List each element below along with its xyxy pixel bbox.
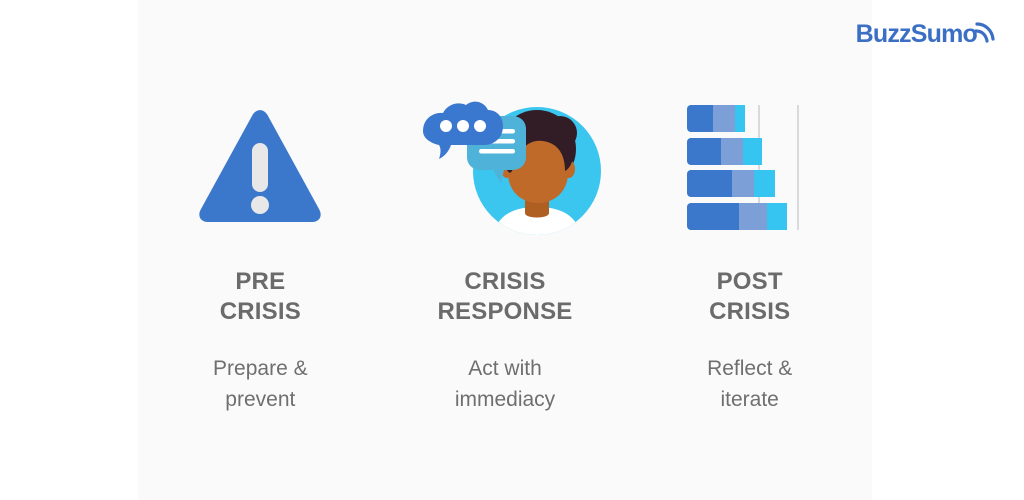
crisis-response-icon-box xyxy=(405,90,605,245)
post-crisis-icon-box xyxy=(687,90,813,245)
bar-segment-2 xyxy=(713,105,735,132)
phase-title-crisis-response: CRISIS RESPONSE xyxy=(438,267,573,327)
bar-segment-1 xyxy=(687,170,732,197)
phase-columns: PRE CRISIS Prepare & prevent xyxy=(138,90,872,415)
phase-description-pre-crisis: Prepare & prevent xyxy=(213,353,308,415)
table-row xyxy=(687,203,813,230)
phase-title-pre-crisis: PRE CRISIS xyxy=(220,267,301,327)
bar-segment-2 xyxy=(732,170,754,197)
phase-column-post-crisis: POST CRISIS Reflect & iterate xyxy=(627,90,872,415)
chart-bars xyxy=(687,105,813,230)
bar-segment-3 xyxy=(754,170,775,197)
stacked-bar-chart-icon xyxy=(687,105,813,230)
bar-segment-3 xyxy=(743,138,762,165)
bar-segment-2 xyxy=(721,138,743,165)
table-row xyxy=(687,170,813,197)
bar-segment-3 xyxy=(735,105,745,132)
wifi-signal-icon xyxy=(974,20,996,48)
phase-column-crisis-response: CRISIS RESPONSE Act with immediacy xyxy=(383,90,628,415)
phase-description-crisis-response: Act with immediacy xyxy=(455,353,555,415)
logo-wordmark: BuzzSumo xyxy=(856,20,977,48)
person-speech-bubbles-icon xyxy=(405,93,605,243)
warning-triangle-icon xyxy=(195,105,325,230)
buzzsumo-logo: BuzzSumo xyxy=(856,20,996,50)
infographic-page: BuzzSumo PRE CRISIS Prepare & prevent xyxy=(0,0,1024,500)
bar-segment-2 xyxy=(739,203,767,230)
bar-segment-1 xyxy=(687,105,713,132)
table-row xyxy=(687,105,813,132)
bar-segment-1 xyxy=(687,138,721,165)
bar-segment-1 xyxy=(687,203,739,230)
table-row xyxy=(687,138,813,165)
pre-crisis-icon-box xyxy=(195,90,325,245)
phase-description-post-crisis: Reflect & iterate xyxy=(707,353,792,415)
phase-title-post-crisis: POST CRISIS xyxy=(709,267,790,327)
phase-column-pre-crisis: PRE CRISIS Prepare & prevent xyxy=(138,90,383,415)
bar-segment-3 xyxy=(767,203,787,230)
